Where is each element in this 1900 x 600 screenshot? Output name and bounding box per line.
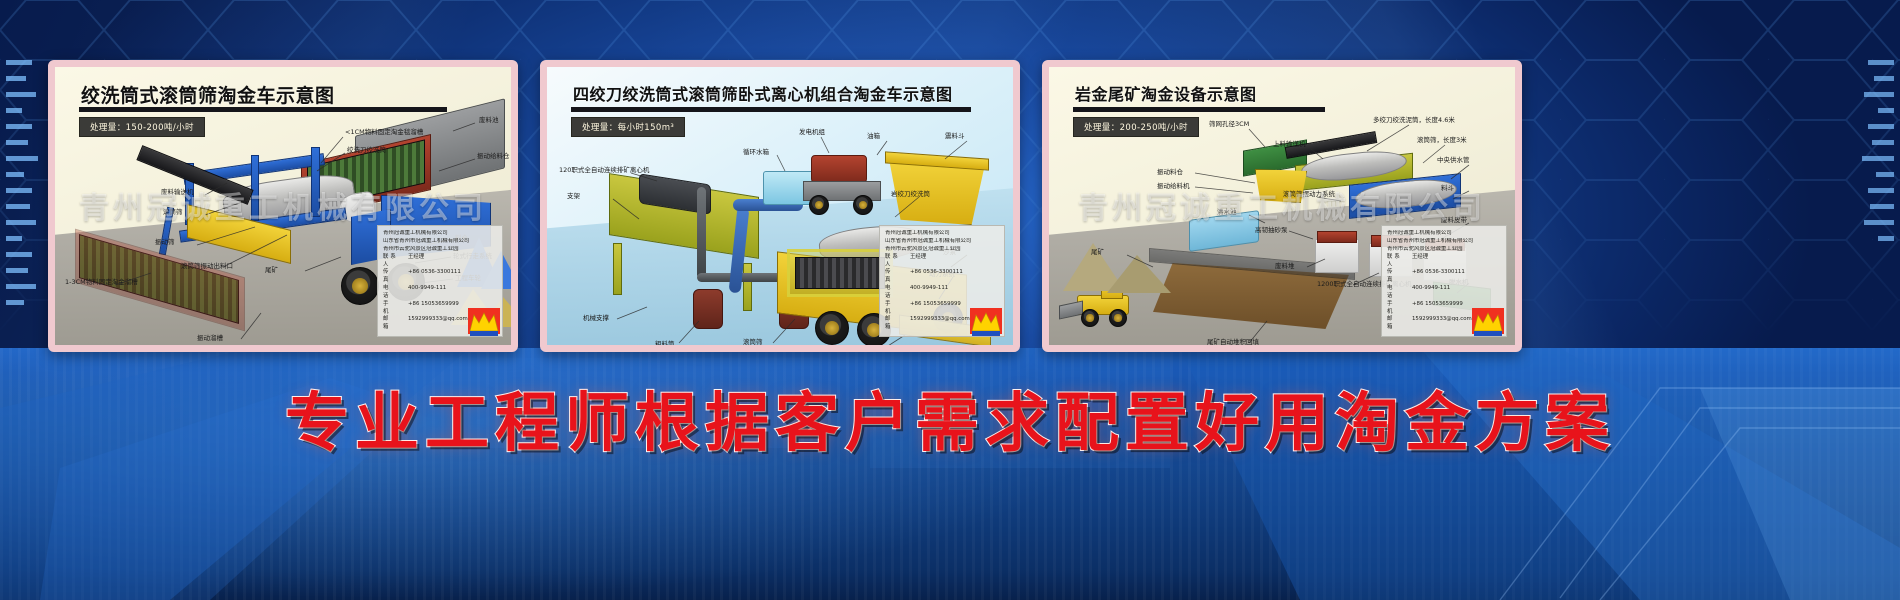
panel-2-capacity-badge: 处理量：每小时150m³ <box>571 117 685 137</box>
diagram-panel-3[interactable]: 筛网孔径3CM 多绞刀绞洗泥筒，长度4.6米 上料输送机 滚筒筛，长度3米 中央… <box>1042 60 1522 352</box>
contact-tel-label: 电 话 <box>1387 285 1409 301</box>
panel-1-title-underline <box>79 107 447 112</box>
contact-person-value: 王经理 <box>408 254 424 270</box>
panel-1-capacity-badge: 处理量：150-200吨/小时 <box>79 117 205 137</box>
diagram-panel-2[interactable]: 发电机组 循环水箱 油箱 震料斗 120职式全自动连续排矿离心机 岩绞刀绞洗筒 … <box>540 60 1020 352</box>
panel-2-title-underline <box>571 107 971 112</box>
contact-person-label: 联系人 <box>1387 254 1409 270</box>
certification-seal-icon <box>467 305 501 339</box>
panel-3-capacity-badge: 处理量：200-250吨/小时 <box>1073 117 1199 137</box>
contact-tel-label: 电 话 <box>885 285 907 301</box>
contact-tel-value: 400-9949-111 <box>910 285 948 301</box>
contact-mobile-label: 手 机 <box>383 301 405 317</box>
contact-fax-label: 传 真 <box>1387 269 1409 285</box>
panel-3-title-underline <box>1073 107 1325 112</box>
contact-mobile-value: +86 15053659999 <box>408 301 459 317</box>
contact-email-label: 邮 箱 <box>1387 316 1409 332</box>
contact-email-value: 1592999333@qq.com <box>408 316 468 332</box>
main-headline: 专业工程师根据客户需求配置好用淘金方案 <box>0 372 1900 464</box>
contact-address: 青州市云驼风景区冠诚重工业园 <box>885 246 999 254</box>
contact-person-label: 联系人 <box>383 254 405 270</box>
contact-email-value: 1592999333@qq.com <box>1412 316 1472 332</box>
contact-address: 青州市云驼风景区冠诚重工业园 <box>383 246 497 254</box>
contact-person-value: 王经理 <box>910 254 926 270</box>
contact-person-label: 联系人 <box>885 254 907 270</box>
contact-company: 青州冠诚重工机械有限公司 <box>383 230 497 238</box>
panel-1-title: 绞洗筒式滚筒筛淘金车示意图 <box>81 81 335 108</box>
panel-2-title: 四绞刀绞洗筒式滚筒筛卧式离心机组合淘金车示意图 <box>573 81 953 105</box>
contact-email-label: 邮 箱 <box>885 316 907 332</box>
contact-company-alt: 山东省青州市冠诚重工机械有限公司 <box>885 238 999 246</box>
contact-tel-value: 400-9949-111 <box>408 285 446 301</box>
contact-tel-label: 电 话 <box>383 285 405 301</box>
contact-company-alt: 山东省青州市冠诚重工机械有限公司 <box>1387 238 1501 246</box>
contact-fax-value: +86 0536-3300111 <box>910 269 963 285</box>
left-edge-tick-marks <box>0 0 46 600</box>
certification-seal-icon <box>1471 305 1505 339</box>
contact-email-label: 邮 箱 <box>383 316 405 332</box>
contact-company: 青州冠诚重工机械有限公司 <box>885 230 999 238</box>
contact-person-value: 王经理 <box>1412 254 1428 270</box>
contact-fax-label: 传 真 <box>885 269 907 285</box>
contact-tel-value: 400-9949-111 <box>1412 285 1450 301</box>
diagram-panel-1[interactable]: <1CM物料固定淘金毯溜槽 废料池 振动给料仓 废料输送机 绞洗刀绞洗筒 滚筒筛… <box>48 60 518 352</box>
contact-fax-label: 传 真 <box>383 269 405 285</box>
certification-seal-icon <box>969 305 1003 339</box>
contact-mobile-value: +86 15053659999 <box>910 301 961 317</box>
panel-3-title: 岩金尾矿淘金设备示意图 <box>1075 81 1257 105</box>
contact-address: 青州市云驼风景区冠诚重工业园 <box>1387 246 1501 254</box>
right-edge-tick-marks <box>1854 0 1900 600</box>
contact-fax-value: +86 0536-3300111 <box>1412 269 1465 285</box>
contact-mobile-label: 手 机 <box>885 301 907 317</box>
contact-mobile-label: 手 机 <box>1387 301 1409 317</box>
contact-company-alt: 山东省青州市冠诚重工机械有限公司 <box>383 238 497 246</box>
contact-mobile-value: +86 15053659999 <box>1412 301 1463 317</box>
contact-fax-value: +86 0536-3300111 <box>408 269 461 285</box>
contact-email-value: 1592999333@qq.com <box>910 316 970 332</box>
contact-company: 青州冠诚重工机械有限公司 <box>1387 230 1501 238</box>
advertising-banner: <1CM物料固定淘金毯溜槽 废料池 振动给料仓 废料输送机 绞洗刀绞洗筒 滚筒筛… <box>0 0 1900 600</box>
